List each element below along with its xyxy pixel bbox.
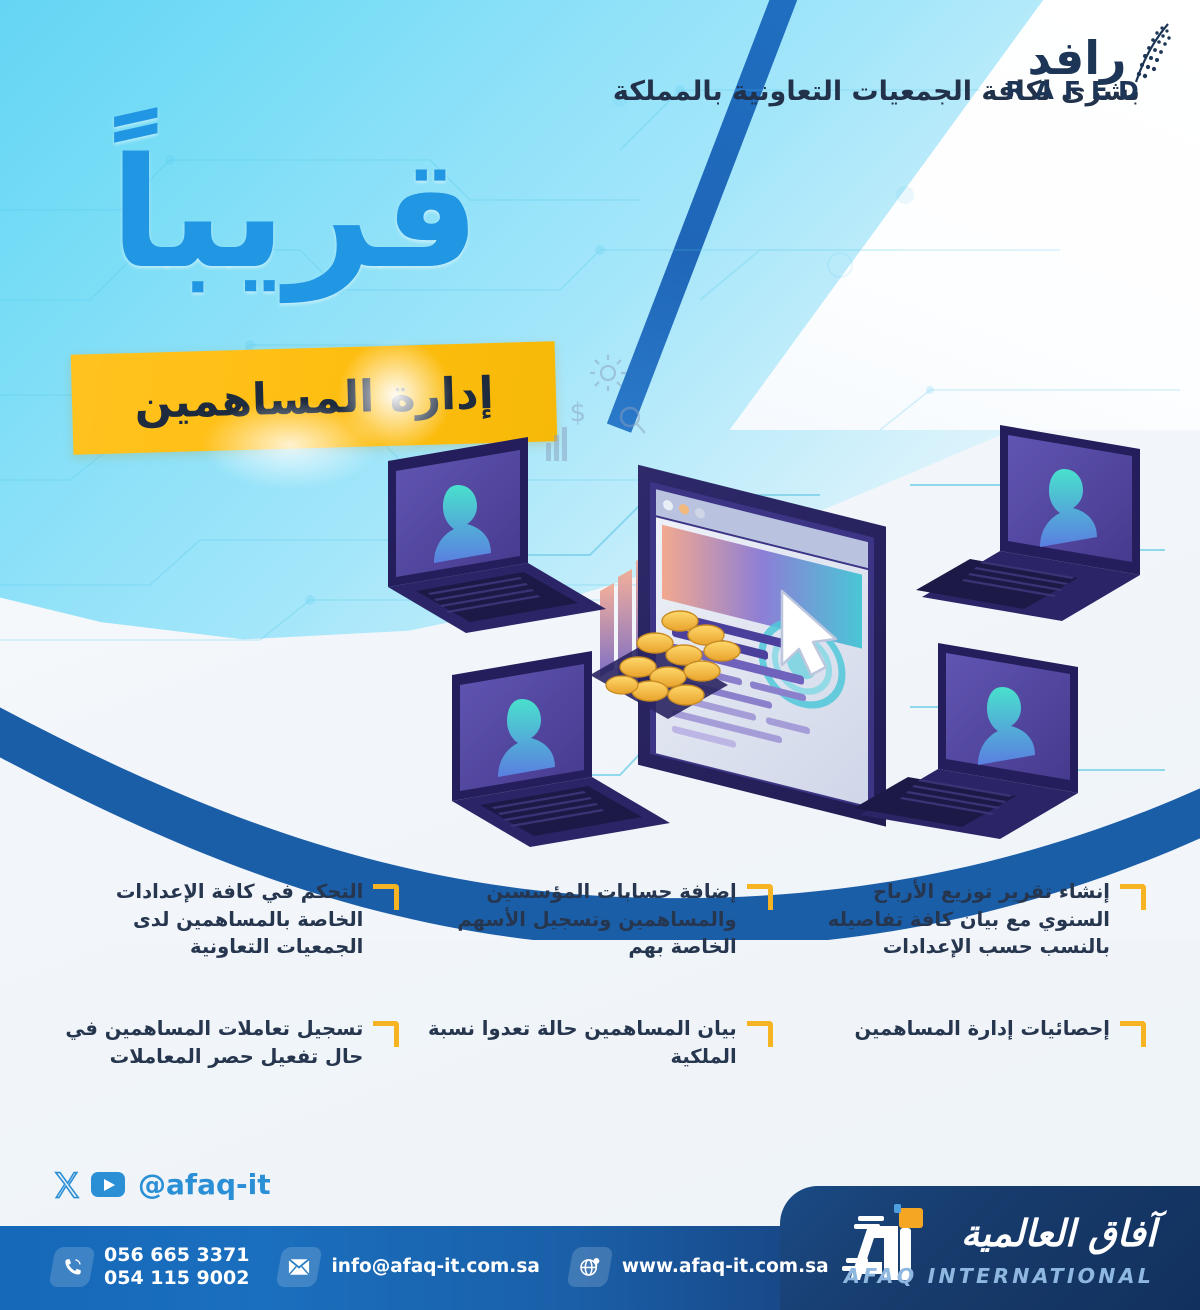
phone-numbers: 056 665 3371 054 115 9002 [104, 1244, 249, 1290]
isometric-laptop [388, 437, 606, 633]
feature-item-profit-report: إنشاء تقرير توزيع الأرباح السنوي مع بيان… [787, 878, 1160, 961]
feature-item-control-settings: التحكم في كافة الإعدادات الخاصة بالمساهم… [40, 878, 413, 961]
features-row-2: إحصائيات إدارة المساهمين بيان المساهمين … [40, 1015, 1160, 1070]
youtube-icon[interactable] [91, 1172, 125, 1197]
social-handle[interactable]: @afaq-it [138, 1168, 271, 1201]
feature-text: بيان المساهمين حالة تعدوا نسبة الملكية [427, 1015, 736, 1070]
features-row-1: إنشاء تقرير توزيع الأرباح السنوي مع بيان… [40, 878, 1160, 961]
feature-item-statistics: إحصائيات إدارة المساهمين [787, 1015, 1160, 1070]
corner-bracket-icon [747, 1021, 773, 1047]
contact-website[interactable]: www.afaq-it.com.sa [570, 1247, 829, 1287]
feature-text: تسجيل تعاملات المساهمين في حال تفعيل حصر… [54, 1015, 363, 1070]
phone-icon [48, 1247, 95, 1287]
footer-contact-list: 056 665 3371 054 115 9002 info@afaq-it.c… [52, 1244, 829, 1290]
floating-glyphs: $ [546, 355, 645, 461]
afaq-logo-latin: AFAQ INTERNATIONAL [844, 1264, 1154, 1288]
poster-canvas: بشرى لكافة الجمعيات التعاونية بالمملكة ر… [0, 0, 1200, 1310]
corner-bracket-icon [1120, 884, 1146, 910]
feature-text: إنشاء تقرير توزيع الأرباح السنوي مع بيان… [801, 878, 1110, 961]
feature-text: التحكم في كافة الإعدادات الخاصة بالمساهم… [54, 878, 363, 961]
isometric-laptop [916, 425, 1140, 621]
feature-item-ownership-exceed: بيان المساهمين حالة تعدوا نسبة الملكية [413, 1015, 786, 1070]
features-grid: إنشاء تقرير توزيع الأرباح السنوي مع بيان… [40, 878, 1160, 1070]
website-url: www.afaq-it.com.sa [622, 1256, 829, 1279]
headline-coming-soon: قريباً [110, 138, 480, 290]
afaq-logo-arabic: آفاق العالمية [961, 1212, 1156, 1255]
corner-bracket-icon [1120, 1021, 1146, 1047]
x-twitter-icon[interactable] [52, 1170, 82, 1200]
feature-text: إضافة حسابات المؤسسين والمساهمين وتسجيل … [427, 878, 736, 961]
contact-phone[interactable]: 056 665 3371 054 115 9002 [52, 1244, 249, 1290]
contact-email[interactable]: info@afaq-it.com.sa [279, 1247, 539, 1287]
afaq-logo: آفاق العالمية AFAQ INTERNATIONAL [836, 1200, 1156, 1292]
corner-bracket-icon [373, 1021, 399, 1047]
envelope-icon [276, 1247, 323, 1287]
rafed-swoosh-icon [1116, 22, 1176, 96]
hero-illustration: $ [350, 355, 1170, 895]
feature-item-add-accounts: إضافة حسابات المؤسسين والمساهمين وتسجيل … [413, 878, 786, 961]
social-row: @afaq-it [52, 1168, 271, 1201]
corner-bracket-icon [373, 884, 399, 910]
feature-text: إحصائيات إدارة المساهمين [801, 1015, 1110, 1043]
isometric-laptop [854, 643, 1078, 839]
feature-item-transactions: تسجيل تعاملات المساهمين في حال تفعيل حصر… [40, 1015, 413, 1070]
corner-bracket-icon [747, 884, 773, 910]
globe-pin-icon [566, 1247, 613, 1287]
email-address: info@afaq-it.com.sa [331, 1256, 539, 1279]
svg-text:$: $ [569, 398, 586, 428]
rafed-logo: رافد RAFED [972, 34, 1182, 142]
